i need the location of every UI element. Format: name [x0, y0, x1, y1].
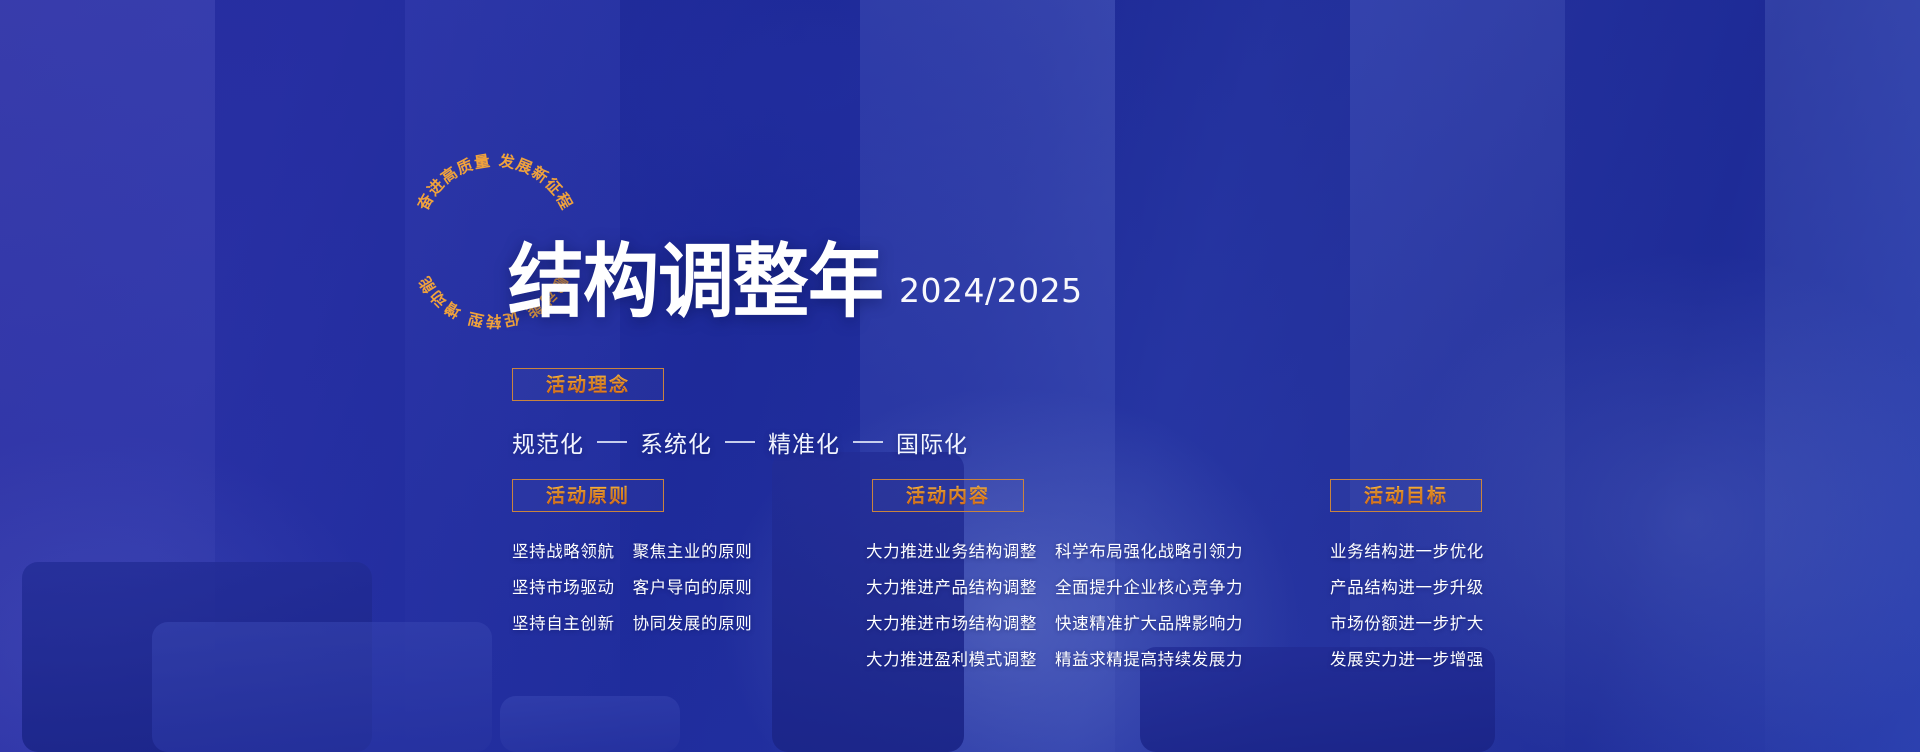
bg-band-2 — [215, 0, 405, 752]
content-line: 产品结构进一步升级 — [1330, 574, 1484, 598]
content-line-right: 科学布局强化战略引领力 — [1055, 538, 1243, 562]
column-goals: 业务结构进一步优化产品结构进一步升级市场份额进一步扩大发展实力进一步增强 — [1330, 538, 1484, 670]
bg-glow-left — [0, 430, 380, 752]
content-line-left: 坚持自主创新 — [512, 610, 615, 634]
concept-keyword: 精准化 — [768, 425, 840, 459]
content-line-right: 精益求精提高持续发展力 — [1055, 646, 1243, 670]
content-line-right: 协同发展的原则 — [633, 610, 753, 634]
content-line-left: 大力推进盈利模式调整 — [866, 646, 1037, 670]
banner-canvas: 奋进高质量 发展新征程 赋动能 促转型 增动能 结构调整年 2024/2025 … — [0, 0, 1920, 752]
content-line-left: 坚持战略领航 — [512, 538, 615, 562]
content-line-left: 坚持市场驱动 — [512, 574, 615, 598]
content-line-left: 业务结构进一步优化 — [1330, 538, 1484, 562]
concept-keyword: 规范化 — [512, 425, 584, 459]
badge-activity-principles-label: 活动原则 — [546, 481, 630, 508]
badge-activity-goals-label: 活动目标 — [1364, 481, 1448, 508]
bg-band-1 — [0, 0, 215, 752]
content-line: 大力推进市场结构调整快速精准扩大品牌影响力 — [866, 610, 1243, 634]
content-line: 坚持战略领航聚焦主业的原则 — [512, 538, 752, 562]
bg-band-8 — [1565, 0, 1765, 752]
content-line-right: 快速精准扩大品牌影响力 — [1055, 610, 1243, 634]
content-line: 坚持市场驱动客户导向的原则 — [512, 574, 752, 598]
badge-activity-idea: 活动理念 — [512, 368, 664, 401]
content-line-right: 聚焦主业的原则 — [633, 538, 753, 562]
seal-arc-top-text: 奋进高质量 发展新征程 — [413, 151, 576, 214]
content-line: 大力推进产品结构调整全面提升企业核心竞争力 — [866, 574, 1243, 598]
content-line: 市场份额进一步扩大 — [1330, 610, 1484, 634]
concept-separator-dash — [853, 441, 883, 443]
content-line-left: 大力推进市场结构调整 — [866, 610, 1037, 634]
bg-band-9 — [1765, 0, 1920, 752]
concept-separator-dash — [725, 441, 755, 443]
concept-separator-dash — [597, 441, 627, 443]
content-line: 大力推进盈利模式调整精益求精提高持续发展力 — [866, 646, 1243, 670]
content-line-left: 市场份额进一步扩大 — [1330, 610, 1484, 634]
content-line-right: 全面提升企业核心竞争力 — [1055, 574, 1243, 598]
page-title: 结构调整年 — [508, 244, 883, 321]
content-line-left: 大力推进业务结构调整 — [866, 538, 1037, 562]
skyline-block-2 — [152, 622, 492, 752]
title-row: 结构调整年 2024/2025 — [508, 248, 1083, 320]
content-line: 坚持自主创新协同发展的原则 — [512, 610, 752, 634]
badge-activity-principles: 活动原则 — [512, 479, 664, 512]
column-contents: 大力推进业务结构调整科学布局强化战略引领力大力推进产品结构调整全面提升企业核心竞… — [866, 538, 1243, 670]
content-line-right: 客户导向的原则 — [633, 574, 753, 598]
column-principles: 坚持战略领航聚焦主业的原则坚持市场驱动客户导向的原则坚持自主创新协同发展的原则 — [512, 538, 752, 634]
content-line: 业务结构进一步优化 — [1330, 538, 1484, 562]
skyline-block-5 — [500, 696, 680, 752]
skyline-block-1 — [22, 562, 372, 752]
concept-keyword: 国际化 — [896, 425, 968, 459]
badge-activity-contents: 活动内容 — [872, 479, 1024, 512]
badge-activity-goals: 活动目标 — [1330, 479, 1482, 512]
content-line-left: 产品结构进一步升级 — [1330, 574, 1484, 598]
seal-arc-top-path: 奋进高质量 发展新征程 — [413, 151, 576, 214]
badge-activity-contents-label: 活动内容 — [906, 481, 990, 508]
content-line: 大力推进业务结构调整科学布局强化战略引领力 — [866, 538, 1243, 562]
title-years: 2024/2025 — [899, 271, 1083, 320]
content-line: 发展实力进一步增强 — [1330, 646, 1484, 670]
concept-keyword: 系统化 — [640, 425, 712, 459]
concept-keywords-row: 规范化系统化精准化国际化 — [512, 425, 968, 459]
content-line-left: 发展实力进一步增强 — [1330, 646, 1484, 670]
badge-activity-idea-label: 活动理念 — [546, 370, 630, 397]
content-line-left: 大力推进产品结构调整 — [866, 574, 1037, 598]
